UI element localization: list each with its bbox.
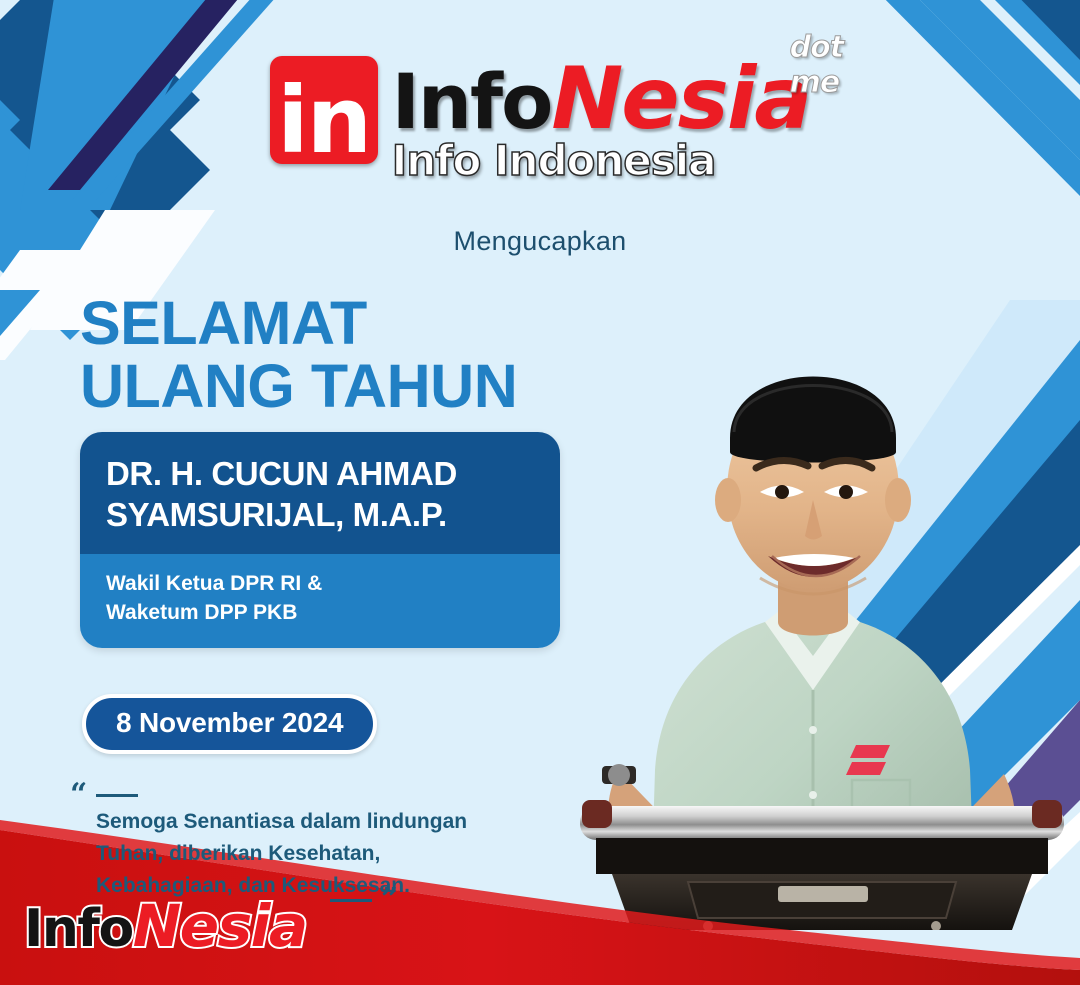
honoree-role-line-2: Waketum DPP PKB <box>106 599 534 628</box>
peci-cap <box>730 377 896 463</box>
birthday-greeting-poster: in dot me InfoNesia Info Indonesia Mengu… <box>0 0 1080 985</box>
honoree-photo <box>560 170 1080 930</box>
quote-open-rule <box>96 794 138 797</box>
greeting-prefix: Mengucapkan <box>0 226 1080 257</box>
quote-line-1: Semoga Senantiasa dalam lindungan <box>96 806 516 838</box>
wordmark-info: Info <box>392 57 552 146</box>
quote-open-mark: “ <box>70 780 87 810</box>
quote-text: Semoga Senantiasa dalam lindungan Tuhan,… <box>96 806 516 902</box>
brand-logo: in dot me InfoNesia Info Indonesia <box>0 34 1080 185</box>
date-badge: 8 November 2024 <box>82 694 377 754</box>
dot-me-label: dot me <box>790 30 843 100</box>
footer-brand-logo: InfoNesia <box>24 897 307 955</box>
footer-wordmark-info: Info <box>24 899 133 959</box>
quote-close-decoration: ” <box>330 885 398 915</box>
in-logo-letters: in <box>277 79 370 164</box>
footer-wordmark-nesia: Nesia <box>133 892 307 960</box>
quote-line-2: Tuhan, diberikan Kesehatan, <box>96 838 516 870</box>
headline-line-2: ULANG TAHUN <box>80 355 517 418</box>
greeting-headline: SELAMAT ULANG TAHUN <box>80 292 517 419</box>
quote-close-mark: ” <box>381 885 398 915</box>
brand-wordmark: InfoNesia <box>392 56 811 142</box>
wordmark-nesia: Nesia <box>551 49 810 149</box>
in-logo-mark: in <box>270 56 378 164</box>
quote-close-rule <box>330 899 372 902</box>
headline-line-1: SELAMAT <box>80 292 517 355</box>
honoree-name-line-1: DR. H. CUCUN AHMAD <box>106 454 534 495</box>
honoree-card: DR. H. CUCUN AHMAD SYAMSURIJAL, M.A.P. W… <box>80 432 560 648</box>
honoree-role-line-1: Wakil Ketua DPR RI & <box>106 570 534 599</box>
honoree-name-line-2: SYAMSURIJAL, M.A.P. <box>106 495 534 536</box>
honoree-role-block: Wakil Ketua DPR RI & Waketum DPP PKB <box>80 554 560 648</box>
honoree-name-block: DR. H. CUCUN AHMAD SYAMSURIJAL, M.A.P. <box>80 432 560 554</box>
